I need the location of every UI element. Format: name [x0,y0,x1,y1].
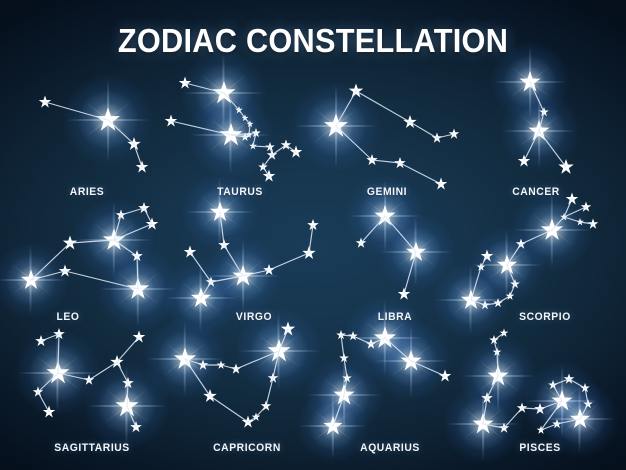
constellation-label-cancer: CANCER [512,186,560,198]
constellation-label-gemini: GEMINI [367,186,407,198]
constellation-label-scorpio: SCORPIO [519,311,571,323]
constellation-label-libra: LIBRA [378,311,412,323]
constellation-label-sagittarius: SAGITTARIUS [54,442,130,454]
constellation-label-aries: ARIES [70,186,104,198]
constellation-label-taurus: TAURUS [217,186,263,198]
constellation-labels: ARIESTAURUSGEMINICANCERLEOVIRGOLIBRASCOR… [0,0,626,470]
zodiac-constellation-poster: ZODIAC CONSTELLATION ARIESTAURUSGEMINICA… [0,0,626,470]
constellation-label-virgo: VIRGO [236,311,272,323]
page-title: ZODIAC CONSTELLATION [22,22,604,60]
constellation-label-pisces: PISCES [519,442,560,454]
constellation-label-capricorn: CAPRICORN [213,442,281,454]
constellation-label-leo: LEO [57,311,80,323]
constellation-label-aquarius: AQUARIUS [360,442,420,454]
